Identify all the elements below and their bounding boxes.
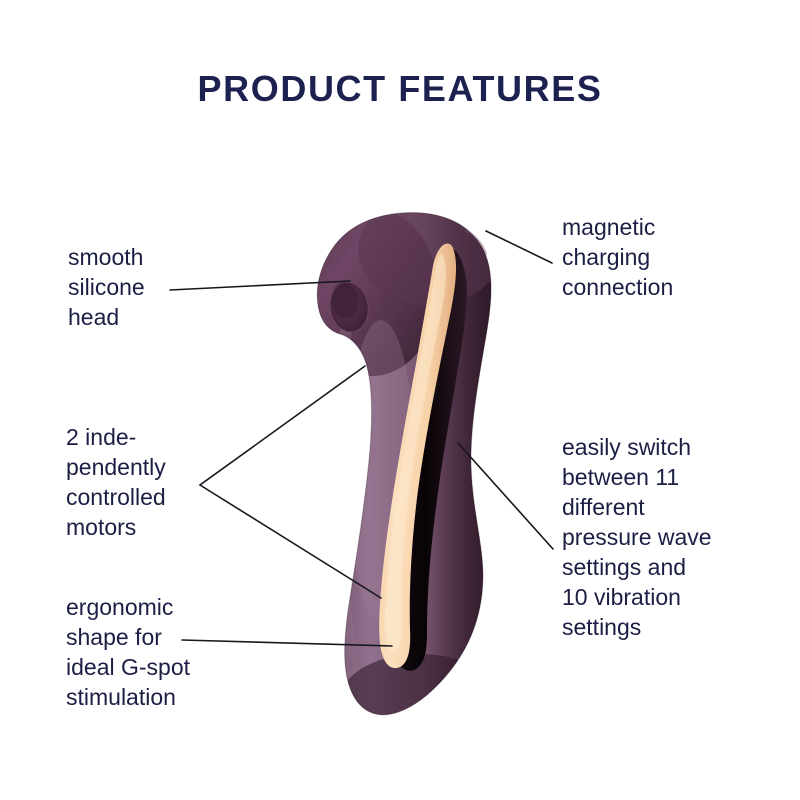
insert-shadow-channel (392, 250, 467, 671)
callout-smooth-silicone-head: smooth silicone head (68, 242, 258, 332)
leader-magnetic-charge (486, 231, 552, 263)
suction-head-opening (326, 279, 371, 334)
infographic-canvas: PRODUCT FEATURES (0, 0, 800, 800)
page-title: PRODUCT FEATURES (0, 68, 800, 110)
charging-contact-shoulder (466, 231, 486, 254)
silicone-body (300, 190, 530, 750)
cream-insert-stripe (379, 243, 456, 668)
callout-magnetic-charging-connection: magnetic charging connection (562, 212, 777, 302)
cream-highlight (385, 254, 446, 652)
callout-two-independent-motors: 2 inde- pendently controlled motors (66, 422, 256, 542)
callout-easily-switch-settings: easily switch between 11 different press… (562, 432, 787, 642)
leader-easily-switch (458, 443, 553, 549)
callout-ergonomic-shape: ergonomic shape for ideal G-spot stimula… (66, 592, 281, 712)
body-outline (317, 213, 491, 715)
